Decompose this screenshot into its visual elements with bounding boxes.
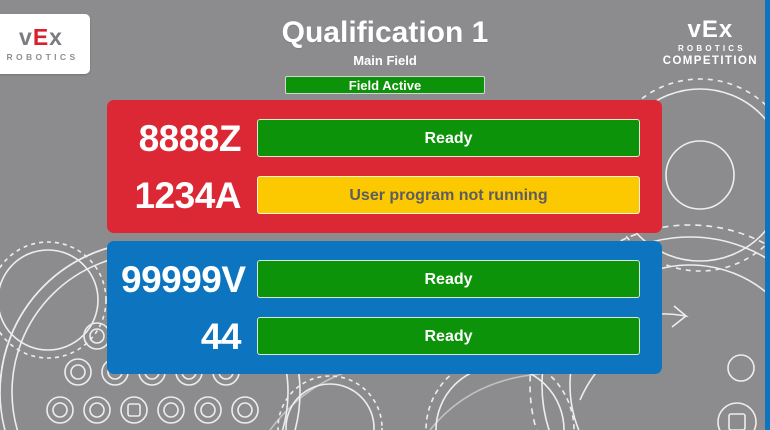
team-number: 44 <box>121 318 257 355</box>
vrc-letter-v: v <box>688 16 702 43</box>
field-display-screen: vEx ROBOTICS vEx ROBOTICS COMPETITION Qu… <box>0 0 770 430</box>
team-number: 99999V <box>121 261 257 298</box>
team-status-badge: Ready <box>257 260 640 298</box>
match-header: Qualification 1 Main Field Field Active <box>0 0 770 95</box>
table-row: 8888Z Ready <box>121 113 640 163</box>
team-number: 8888Z <box>121 120 257 157</box>
vrc-letter-x: x <box>719 16 733 43</box>
vex-robotics-competition-logo: vEx ROBOTICS COMPETITION <box>663 18 758 67</box>
vrc-logo-subtitle: ROBOTICS <box>666 44 758 53</box>
vex-letter-x: x <box>49 24 63 50</box>
team-status-badge: User program not running <box>257 176 640 214</box>
right-edge-accent-stripe <box>765 0 770 430</box>
table-row: 99999V Ready <box>121 254 640 304</box>
vex-letter-v: v <box>19 24 33 50</box>
vex-robotics-logo: vEx ROBOTICS <box>0 14 90 74</box>
alliance-panel-blue: 99999V Ready 44 Ready <box>107 241 662 374</box>
vex-letter-e: E <box>33 24 49 50</box>
vex-logo-subtitle: ROBOTICS <box>6 52 78 62</box>
vrc-vex-wordmark: vEx <box>663 18 758 42</box>
status-badge: Field Active <box>285 76 485 94</box>
page-title: Qualification 1 <box>0 17 770 49</box>
vrc-competition-label: COMPETITION <box>663 55 758 67</box>
team-status-badge: Ready <box>257 119 640 157</box>
table-row: 44 Ready <box>121 311 640 361</box>
vex-wordmark: vEx <box>19 26 63 49</box>
field-name-label: Main Field <box>0 53 770 68</box>
alliance-panel-red: 8888Z Ready 1234A User program not runni… <box>107 100 662 233</box>
team-number: 1234A <box>121 177 257 214</box>
team-status-badge: Ready <box>257 317 640 355</box>
table-row: 1234A User program not running <box>121 170 640 220</box>
vrc-letter-e: E <box>702 16 719 43</box>
